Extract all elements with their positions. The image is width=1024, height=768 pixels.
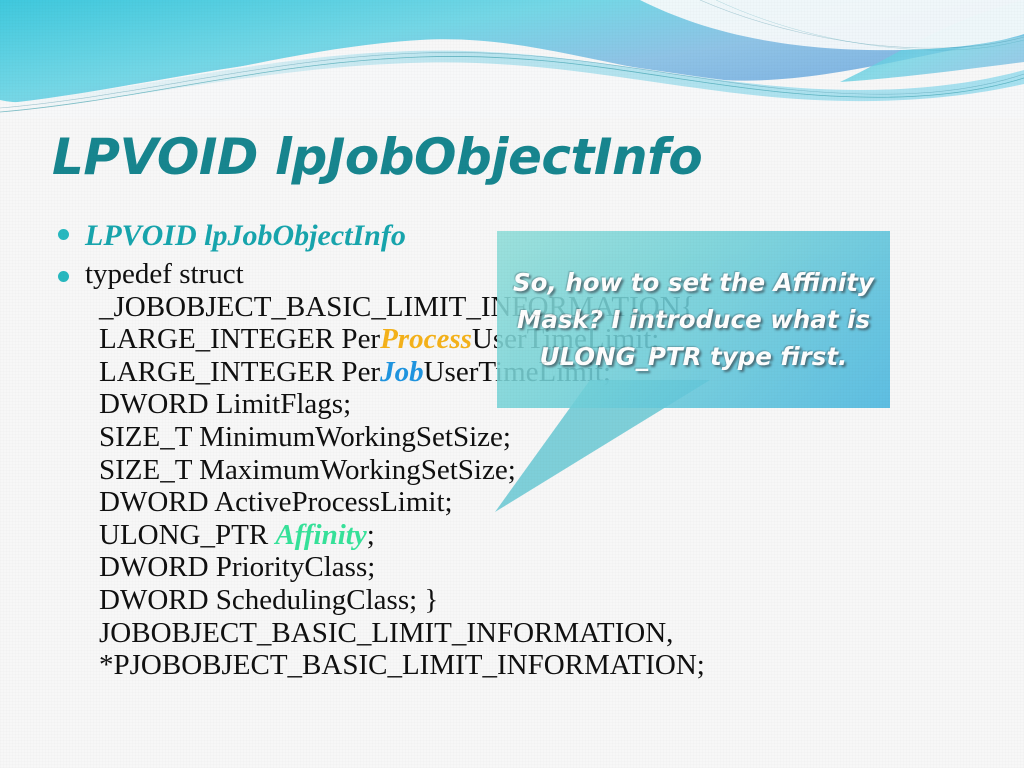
code-text: DWORD ActiveProcessLimit;: [99, 486, 453, 518]
code-line: DWORD PriorityClass;: [85, 551, 375, 583]
code-keyword: Affinity: [275, 519, 366, 551]
code-line: *PJOBOBJECT_BASIC_LIMIT_INFORMATION;: [85, 649, 705, 681]
code-text: LARGE_INTEGER Per: [99, 356, 380, 388]
slide-title: LPVOID lpJobObjectInfo: [52, 126, 952, 188]
callout-text: So, how to set the Affinity Mask? I intr…: [497, 264, 890, 375]
code-line: SIZE_T MaximumWorkingSetSize;: [85, 454, 516, 486]
code-keyword: Job: [380, 356, 424, 388]
code-line: ULONG_PTR Affinity;: [85, 519, 375, 551]
callout-bubble: So, how to set the Affinity Mask? I intr…: [497, 231, 890, 408]
code-keyword: Process: [380, 323, 472, 355]
slide-canvas: LPVOID lpJobObjectInfo LPVOID lpJobObjec…: [0, 0, 1024, 768]
code-line: JOBOBJECT_BASIC_LIMIT_INFORMATION,: [85, 617, 673, 649]
code-text: ;: [367, 519, 375, 551]
bullet-dot-icon: [58, 229, 69, 240]
code-text: DWORD SchedulingClass; }: [99, 584, 438, 616]
code-line: typedef struct: [85, 258, 244, 290]
code-text: ULONG_PTR: [99, 519, 275, 551]
code-text: *PJOBOBJECT_BASIC_LIMIT_INFORMATION;: [99, 649, 705, 681]
code-line: SIZE_T MinimumWorkingSetSize;: [85, 421, 511, 453]
code-line: DWORD SchedulingClass; }: [85, 584, 438, 616]
code-text: LARGE_INTEGER Per: [99, 323, 380, 355]
code-text: DWORD PriorityClass;: [99, 551, 375, 583]
bullet-dot-icon: [58, 271, 69, 282]
code-text: SIZE_T MinimumWorkingSetSize;: [99, 421, 511, 453]
code-text: JOBOBJECT_BASIC_LIMIT_INFORMATION,: [99, 617, 673, 649]
code-text: typedef struct: [85, 258, 244, 290]
decorative-wave-banner: [0, 0, 1024, 118]
code-line: DWORD LimitFlags;: [85, 388, 351, 420]
code-text: DWORD LimitFlags;: [99, 388, 351, 420]
code-line: DWORD ActiveProcessLimit;: [85, 486, 453, 518]
code-text: SIZE_T MaximumWorkingSetSize;: [99, 454, 516, 486]
